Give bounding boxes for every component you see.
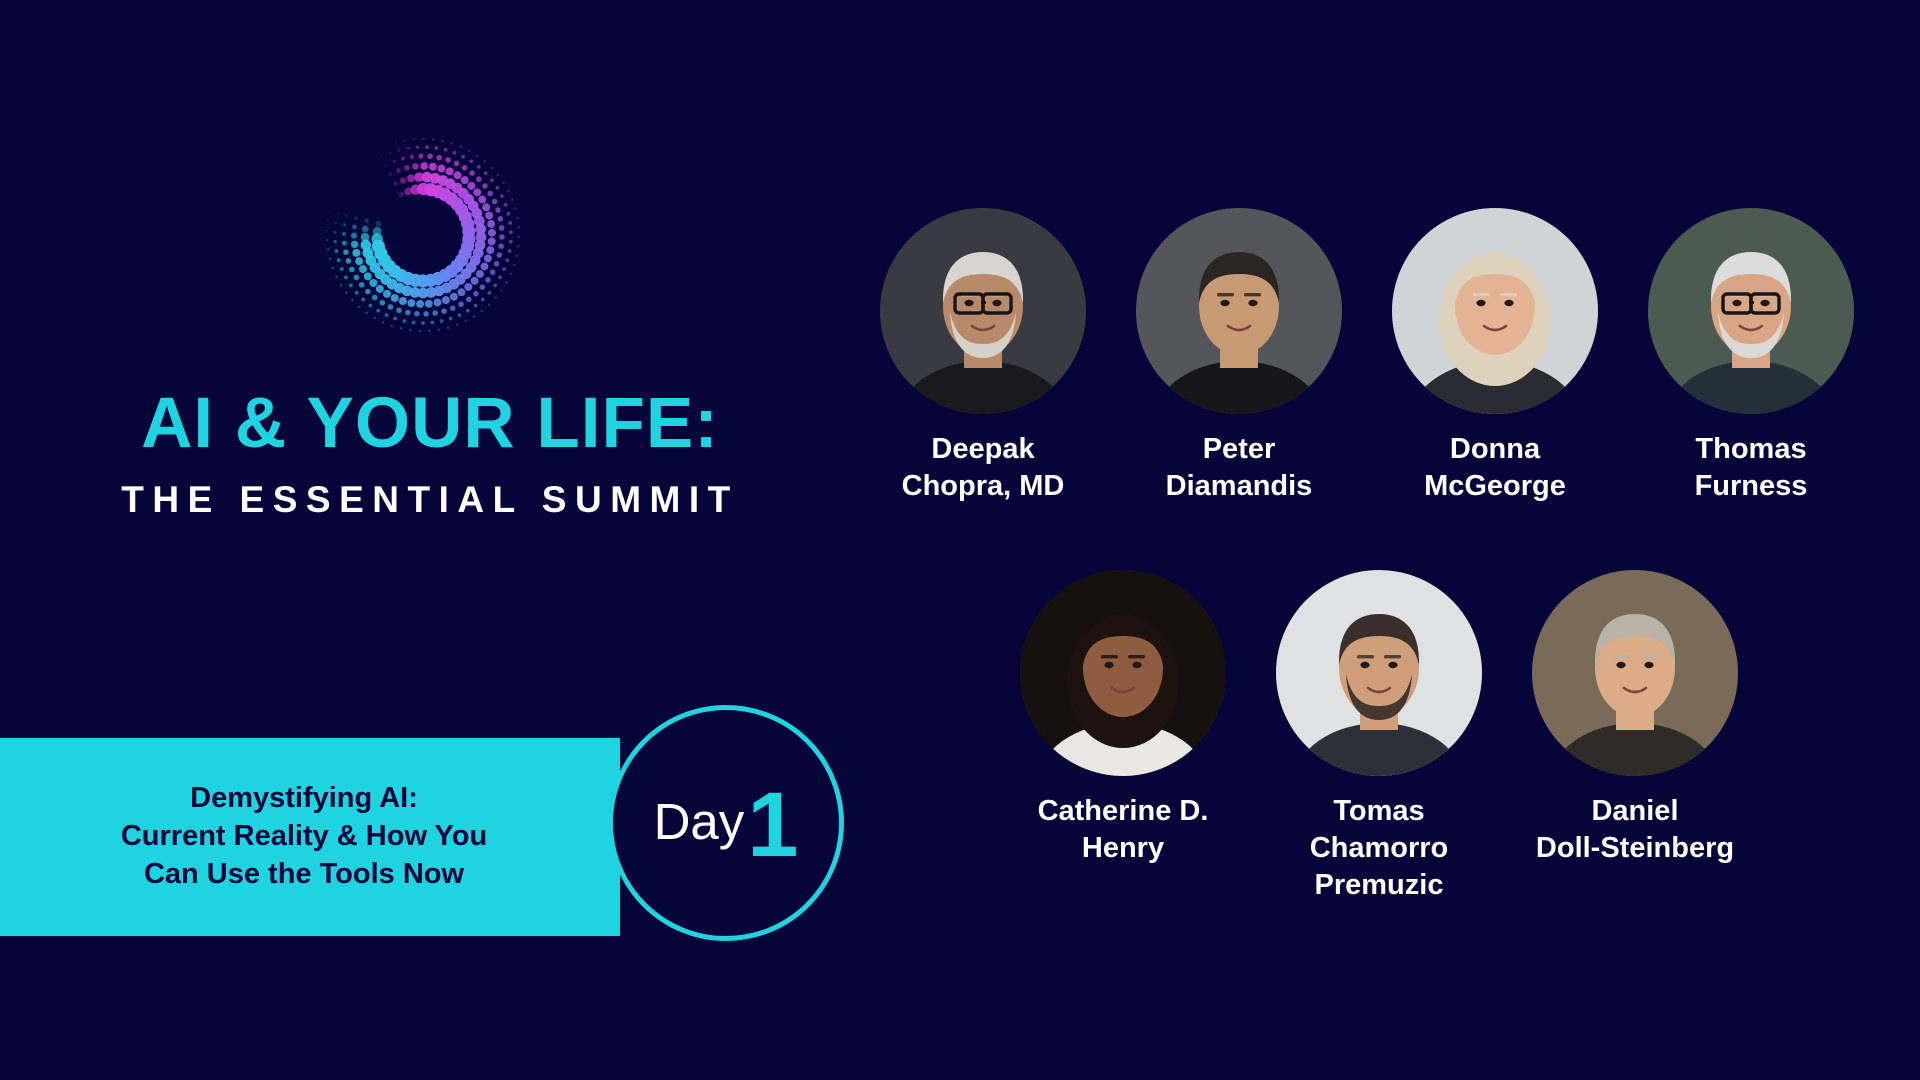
speaker-name: TomasChamorroPremuzic bbox=[1310, 793, 1449, 904]
session-topic-line-2: Current Reality & How You bbox=[121, 818, 487, 856]
speaker-name-line: Chamorro bbox=[1310, 830, 1449, 867]
session-topic-line-3: Can Use the Tools Now bbox=[121, 856, 487, 894]
portrait-catherine-henry bbox=[1020, 570, 1226, 776]
speaker-card[interactable]: TomasChamorroPremuzic bbox=[1276, 570, 1482, 904]
speaker-name: PeterDiamandis bbox=[1166, 431, 1313, 505]
page-subtitle: THE ESSENTIAL SUMMIT bbox=[0, 481, 860, 518]
day-badge: Day 1 bbox=[608, 705, 844, 941]
speaker-name-line: Doll-Steinberg bbox=[1536, 830, 1734, 867]
portrait-deepak-chopra bbox=[880, 208, 1086, 414]
speaker-name-line: Catherine D. bbox=[1038, 793, 1209, 830]
speaker-card[interactable]: DonnaMcGeorge bbox=[1392, 208, 1598, 505]
speaker-card[interactable]: DanielDoll-Steinberg bbox=[1532, 570, 1738, 904]
speaker-row-bottom: Catherine D.HenryTomasChamorroPremuzicDa… bbox=[1020, 570, 1738, 904]
speaker-card[interactable]: Catherine D.Henry bbox=[1020, 570, 1226, 904]
portrait-donna-mcgeorge bbox=[1392, 208, 1598, 414]
speaker-name-line: Furness bbox=[1695, 468, 1808, 505]
speaker-name: DonnaMcGeorge bbox=[1424, 431, 1566, 505]
speaker-name: Catherine D.Henry bbox=[1038, 793, 1209, 867]
speaker-name-line: Peter bbox=[1166, 431, 1313, 468]
session-topic-banner: Demystifying AI: Current Reality & How Y… bbox=[0, 738, 620, 936]
page-title: AI & YOUR LIFE: bbox=[0, 388, 860, 459]
speaker-name-line: Premuzic bbox=[1310, 867, 1449, 904]
speaker-name-line: Henry bbox=[1038, 830, 1209, 867]
title-block: AI & YOUR LIFE: THE ESSENTIAL SUMMIT bbox=[0, 388, 860, 518]
session-topic-line-1: Demystifying AI: bbox=[121, 780, 487, 818]
promo-poster: AI & YOUR LIFE: THE ESSENTIAL SUMMIT Dem… bbox=[0, 0, 1920, 1080]
speaker-card[interactable]: ThomasFurness bbox=[1648, 208, 1854, 505]
halftone-dot-ring-icon bbox=[318, 130, 528, 340]
speaker-row-top: DeepakChopra, MDPeterDiamandisDonnaMcGeo… bbox=[880, 208, 1854, 505]
speaker-name: ThomasFurness bbox=[1695, 431, 1808, 505]
speaker-name-line: McGeorge bbox=[1424, 468, 1566, 505]
portrait-daniel-doll-steinberg bbox=[1532, 570, 1738, 776]
portrait-tomas-chamorro-premuzic bbox=[1276, 570, 1482, 776]
speaker-name-line: Diamandis bbox=[1166, 468, 1313, 505]
speaker-name-line: Deepak bbox=[902, 431, 1065, 468]
speaker-card[interactable]: PeterDiamandis bbox=[1136, 208, 1342, 505]
portrait-peter-diamandis bbox=[1136, 208, 1342, 414]
speaker-name-line: Thomas bbox=[1695, 431, 1808, 468]
speaker-name: DanielDoll-Steinberg bbox=[1536, 793, 1734, 867]
speaker-card[interactable]: DeepakChopra, MD bbox=[880, 208, 1086, 505]
speaker-name-line: Chopra, MD bbox=[902, 468, 1065, 505]
day-label: Day bbox=[654, 792, 745, 851]
speaker-name-line: Donna bbox=[1424, 431, 1566, 468]
day-number: 1 bbox=[747, 786, 798, 864]
session-topic-text: Demystifying AI: Current Reality & How Y… bbox=[61, 780, 559, 893]
speaker-name-line: Daniel bbox=[1536, 793, 1734, 830]
speaker-name: DeepakChopra, MD bbox=[902, 431, 1065, 505]
speaker-name-line: Tomas bbox=[1310, 793, 1449, 830]
portrait-thomas-furness bbox=[1648, 208, 1854, 414]
